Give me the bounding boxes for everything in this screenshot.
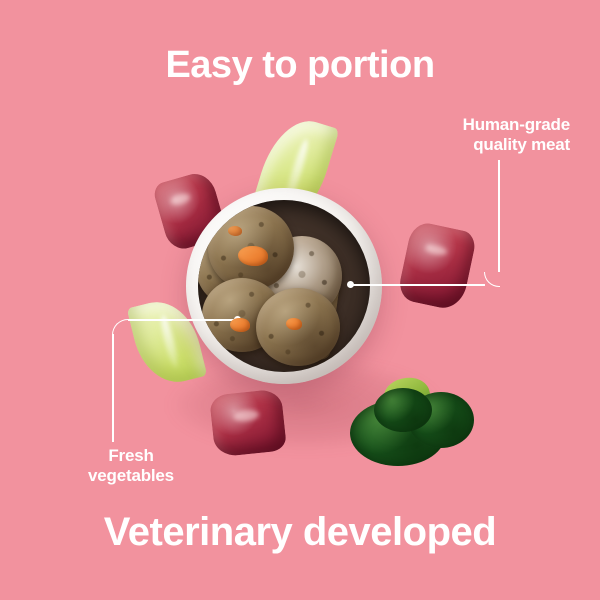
leader-vertical bbox=[498, 160, 500, 272]
raw-meat-cube-right bbox=[396, 220, 477, 312]
headline-bottom: Veterinary developed bbox=[0, 512, 600, 552]
carrot-piece bbox=[286, 318, 302, 330]
fat-marbling bbox=[425, 243, 448, 256]
lettuce-rib bbox=[158, 314, 181, 369]
fat-marbling bbox=[169, 192, 191, 207]
meat-patty-lower-right bbox=[256, 288, 340, 366]
headline-top: Easy to portion bbox=[0, 46, 600, 84]
callout-label-human-grade-quality-meat: Human-grade quality meat bbox=[463, 115, 570, 155]
carrot-piece bbox=[238, 246, 268, 266]
leader-horizontal bbox=[352, 284, 485, 286]
bowl-interior bbox=[198, 200, 370, 372]
carrot-piece bbox=[228, 226, 242, 236]
callout-label-fresh-vegetables: Fresh vegetables bbox=[56, 446, 206, 486]
promo-card: Easy to portion Human-grade quality meat… bbox=[0, 0, 600, 600]
leader-vertical bbox=[112, 334, 114, 442]
carrot-piece bbox=[230, 318, 250, 332]
leader-horizontal bbox=[128, 319, 238, 321]
broccoli-head bbox=[374, 388, 432, 432]
raw-meat-cube-bottom bbox=[209, 388, 287, 457]
leader-endpoint-dot bbox=[347, 281, 354, 288]
broccoli-floret bbox=[344, 378, 476, 468]
fat-marbling bbox=[233, 409, 260, 423]
